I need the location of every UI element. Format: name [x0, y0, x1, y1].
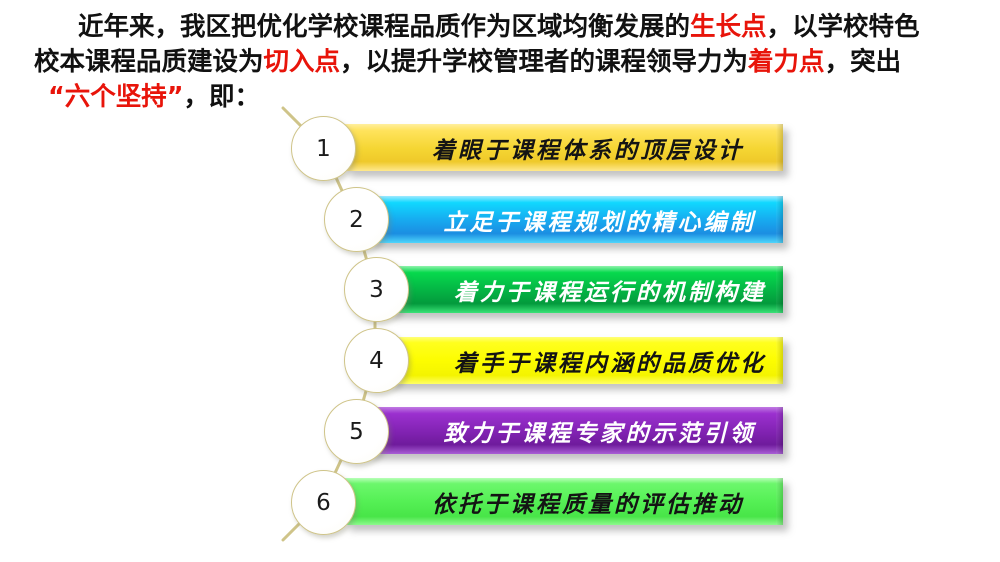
step-bar-2[interactable]: 立足于课程规划的精心编制 — [368, 196, 783, 243]
step-number-circle-5[interactable]: 5 — [324, 399, 389, 464]
header-line-1: 近年来，我区把优化学校课程品质作为区域均衡发展的生长点，以学校特色 — [34, 10, 970, 45]
header-line-1-highlight: 生长点 — [690, 12, 767, 42]
step-bar-4[interactable]: 着手于课程内涵的品质优化 — [389, 337, 783, 384]
header-line-2-run: 校本课程品质建设为 — [34, 47, 264, 77]
step-number-1: 1 — [316, 136, 331, 162]
header-line-2-run: ，突出 — [825, 47, 902, 77]
step-number-circle-1[interactable]: 1 — [291, 116, 356, 181]
header-line-3-highlight: “六个坚持” — [48, 82, 184, 112]
step-number-4: 4 — [369, 348, 384, 374]
header-line-2: 校本课程品质建设为切入点，以提升学校管理者的课程领导力为着力点，突出 — [34, 45, 970, 80]
step-bar-3[interactable]: 着力于课程运行的机制构建 — [389, 266, 783, 313]
step-bar-2-label: 立足于课程规划的精心编制 — [396, 203, 756, 237]
step-number-3: 3 — [369, 277, 384, 303]
header-line-2-run: ，以提升学校管理者的课程领导力为 — [340, 47, 748, 77]
step-number-circle-4[interactable]: 4 — [344, 328, 409, 393]
step-number-6: 6 — [316, 490, 331, 516]
header-line-2-highlight: 着力点 — [748, 47, 825, 77]
step-bar-5[interactable]: 致力于课程专家的示范引领 — [368, 407, 783, 454]
step-number-circle-3[interactable]: 3 — [344, 257, 409, 322]
step-bar-3-label: 着力于课程运行的机制构建 — [406, 273, 766, 307]
header-paragraph: 近年来，我区把优化学校课程品质作为区域均衡发展的生长点，以学校特色 校本课程品质… — [34, 10, 970, 115]
step-number-circle-2[interactable]: 2 — [324, 187, 389, 252]
step-number-2: 2 — [349, 207, 364, 233]
header-line-3: “六个坚持”，即： — [34, 80, 970, 115]
header-line-1-run: ，以学校特色 — [767, 12, 920, 42]
header-line-1-run: 近年来，我区把优化学校课程品质作为区域均衡发展的 — [78, 12, 690, 42]
step-number-circle-6[interactable]: 6 — [291, 470, 356, 535]
step-bar-4-label: 着手于课程内涵的品质优化 — [406, 344, 766, 378]
header-line-2-highlight: 切入点 — [264, 47, 341, 77]
step-bar-1[interactable]: 着眼于课程体系的顶层设计 — [345, 124, 783, 171]
step-number-5: 5 — [349, 419, 364, 445]
step-bar-6-label: 依托于课程质量的评估推动 — [384, 485, 744, 519]
step-bar-1-label: 着眼于课程体系的顶层设计 — [384, 131, 744, 165]
slide-canvas: 近年来，我区把优化学校课程品质作为区域均衡发展的生长点，以学校特色 校本课程品质… — [0, 0, 1000, 562]
header-line-3-run: ，即： — [184, 82, 261, 112]
step-bar-5-label: 致力于课程专家的示范引领 — [396, 414, 756, 448]
step-bar-6[interactable]: 依托于课程质量的评估推动 — [345, 478, 783, 525]
